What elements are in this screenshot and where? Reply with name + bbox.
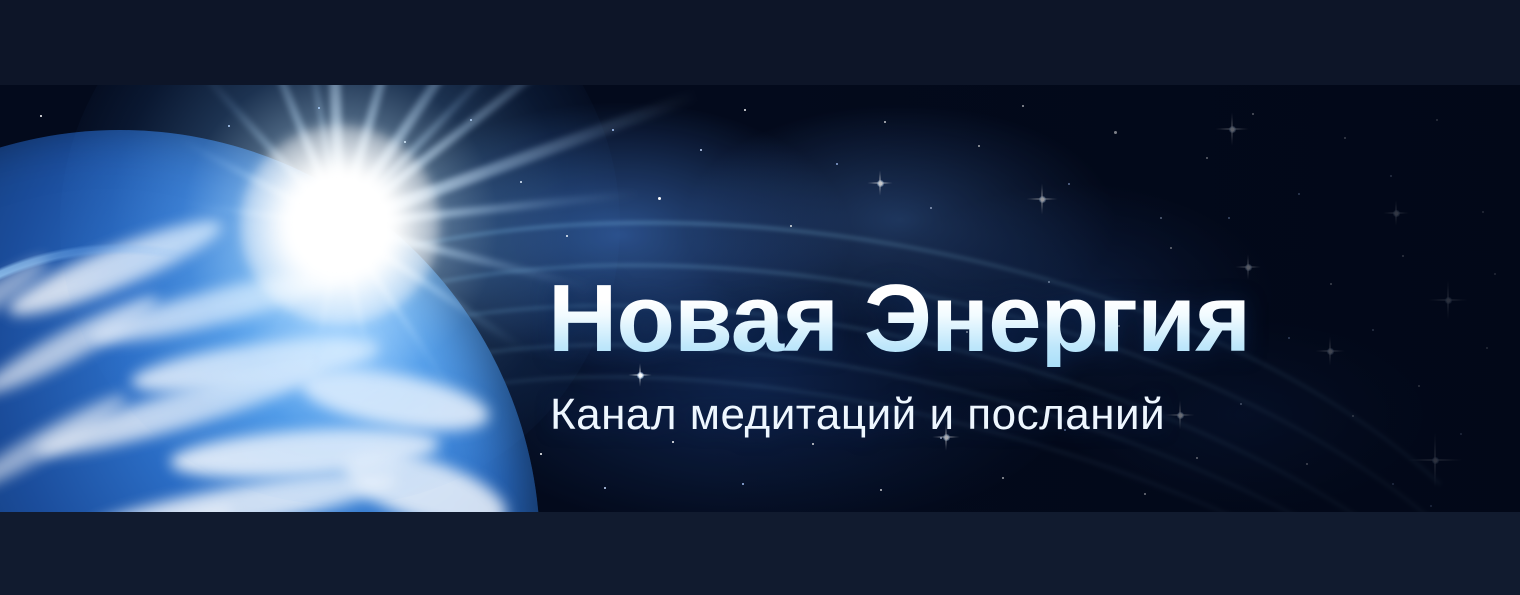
letterbox-top (0, 0, 1520, 85)
channel-title: Новая Энергия (548, 271, 1328, 367)
letterbox-bottom (0, 512, 1520, 595)
page-root: Новая Энергия Канал медитаций и посланий (0, 0, 1520, 595)
channel-subtitle: Канал медитаций и посланий (550, 393, 1328, 437)
channel-banner: Новая Энергия Канал медитаций и посланий (0, 85, 1520, 512)
banner-text-block: Новая Энергия Канал медитаций и посланий (548, 271, 1328, 437)
